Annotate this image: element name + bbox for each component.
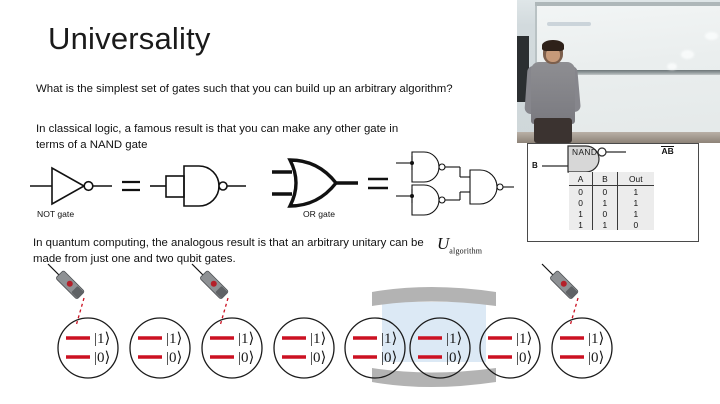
cell-b: 1: [593, 197, 617, 208]
cell-a: 1: [569, 219, 593, 230]
cell-out: 0: [617, 219, 654, 230]
ket-one-label: |1⟩: [94, 331, 110, 347]
laser-indicator: [560, 280, 568, 288]
lasers-group: [48, 264, 579, 326]
laser-3: [192, 264, 229, 326]
laser-indicator: [210, 280, 218, 288]
lecturer-hair: [542, 40, 564, 51]
cavity-mirror-top: [372, 287, 496, 306]
question-text: What is the simplest set of gates such t…: [36, 82, 506, 98]
not-gate-symbol: [30, 168, 112, 204]
or-gate-caption: OR gate: [303, 209, 335, 219]
lecturer-torso: [531, 62, 575, 124]
ket-one-label: |1⟩: [516, 331, 532, 347]
unitary-symbol-letter: U: [437, 234, 449, 253]
qubit-2: |1⟩|0⟩: [130, 318, 190, 378]
qubit-circle: [58, 318, 118, 378]
laser-8: [542, 264, 579, 326]
ket-zero-label: |0⟩: [94, 350, 110, 366]
equals-sign-not: [122, 182, 140, 190]
laser-aperture: [565, 286, 578, 299]
qubit-circle: [345, 318, 405, 378]
nand-gate-label: NAND: [572, 147, 597, 157]
nand-input-label: B: [532, 161, 538, 170]
ket-one-label: |1⟩: [310, 331, 326, 347]
cell-b: 0: [593, 208, 617, 219]
laser-aperture: [215, 286, 228, 299]
laser-body: [200, 270, 229, 299]
unitary-algorithm-symbol: Ualgorithm: [437, 234, 482, 255]
qubit-circle: [410, 318, 470, 378]
qubit-1: |1⟩|0⟩: [58, 318, 118, 378]
nand-gate-symbol-not: [150, 166, 246, 206]
ket-zero-label: |0⟩: [310, 350, 326, 366]
cell-b: 1: [593, 219, 617, 230]
laser-indicator: [66, 280, 74, 288]
laser-housing: [200, 270, 229, 299]
cell-out: 1: [617, 197, 654, 208]
ket-one-label: |1⟩: [238, 331, 254, 347]
qubit-6: |1⟩|0⟩: [410, 318, 470, 378]
equals-sign-or: [368, 179, 388, 188]
laser-housing: [550, 270, 579, 299]
whiteboard-top-frame: [535, 2, 720, 6]
whiteboard-writing: [547, 22, 591, 26]
ket-one-label: |1⟩: [588, 331, 604, 347]
ket-one-label: |1⟩: [381, 331, 397, 347]
page-title: Universality: [48, 22, 211, 56]
nand-truth-table-panel: NAND B AB A B Out 0 0 1 0 1 1: [527, 143, 699, 242]
laser-beam: [570, 298, 578, 326]
ket-one-label: |1⟩: [446, 331, 462, 347]
laser-cable: [542, 264, 558, 280]
ket-zero-label: |0⟩: [166, 350, 182, 366]
cell-b: 0: [593, 186, 617, 198]
unitary-symbol-subscript: algorithm: [449, 246, 482, 255]
truth-table-header-b: B: [593, 172, 617, 186]
ket-zero-label: |0⟩: [446, 350, 462, 366]
truth-table-header-a: A: [569, 172, 593, 186]
classical-logic-text: In classical logic, a famous result is t…: [36, 122, 426, 153]
laser-beam: [220, 298, 228, 326]
qubit-circle: [552, 318, 612, 378]
ket-one-label: |1⟩: [166, 331, 182, 347]
table-row: 0 1 1: [569, 197, 654, 208]
laser-body: [550, 270, 579, 299]
qubit-7: |1⟩|0⟩: [480, 318, 540, 378]
qubit-circle: [130, 318, 190, 378]
ket-zero-label: |0⟩: [381, 350, 397, 366]
table-row: 1 0 1: [569, 208, 654, 219]
truth-table-header-out: Out: [617, 172, 654, 186]
ket-zero-label: |0⟩: [516, 350, 532, 366]
slide-root: Universality What is the simplest set of…: [0, 0, 720, 404]
lecturer-legs: [534, 118, 572, 143]
nand-network: [396, 152, 514, 215]
or-gate-symbol: [272, 160, 358, 206]
laser-1: [48, 264, 85, 326]
qubit-circle: [274, 318, 334, 378]
qubit-3: |1⟩|0⟩: [202, 318, 262, 378]
laser-aperture: [71, 286, 84, 299]
quantum-computing-text: In quantum computing, the analogous resu…: [33, 236, 453, 267]
nand-output-label: AB: [661, 146, 674, 156]
cell-a: 0: [569, 186, 593, 198]
qubit-circle: [480, 318, 540, 378]
table-row: 0 0 1: [569, 186, 654, 198]
cell-a: 1: [569, 208, 593, 219]
optical-cavity: [372, 287, 496, 387]
ket-zero-label: |0⟩: [238, 350, 254, 366]
laser-beam: [76, 298, 84, 326]
qubit-5: |1⟩|0⟩: [345, 318, 405, 378]
nand-truth-table: A B Out 0 0 1 0 1 1 1 0 1: [569, 172, 654, 230]
truth-table-header-row: A B Out: [569, 172, 654, 186]
cell-out: 1: [617, 186, 654, 198]
laser-housing: [56, 270, 85, 299]
cell-a: 0: [569, 197, 593, 208]
cell-out: 1: [617, 208, 654, 219]
ceiling-light-glare-2: [681, 50, 694, 59]
table-row: 1 1 0: [569, 219, 654, 230]
qubit-circle: [202, 318, 262, 378]
ceiling-light-glare-1: [705, 32, 718, 40]
ceiling-light-glare-3: [667, 63, 677, 70]
cavity-mirror-bottom: [372, 368, 496, 387]
nand-output-overline: AB: [661, 146, 674, 156]
qubit-8: |1⟩|0⟩: [552, 318, 612, 378]
qubit-4: |1⟩|0⟩: [274, 318, 334, 378]
ket-zero-label: |0⟩: [588, 350, 604, 366]
not-gate-caption: NOT gate: [37, 209, 74, 219]
lecture-video-thumbnail[interactable]: [517, 0, 720, 143]
laser-body: [56, 270, 85, 299]
qubit-circles-group: |1⟩|0⟩|1⟩|0⟩|1⟩|0⟩|1⟩|0⟩|1⟩|0⟩|1⟩|0⟩|1⟩|…: [58, 318, 612, 378]
